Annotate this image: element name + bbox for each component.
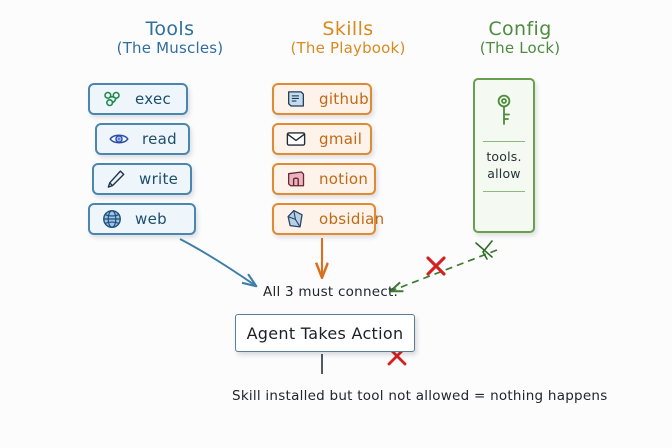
column-title-skills: Skills — [248, 18, 448, 40]
config-divider-bottom — [483, 191, 525, 192]
config-key-line1: tools. — [486, 149, 521, 164]
envelope-icon — [285, 128, 307, 150]
config-divider-top — [483, 141, 525, 142]
config-key-line2: allow — [487, 166, 520, 181]
tool-chip-exec[interactable]: exec — [88, 83, 188, 115]
config-panel[interactable]: tools. allow — [473, 78, 535, 233]
column-subtitle-tools: (The Muscles) — [60, 40, 280, 58]
tool-label-read: read — [142, 130, 177, 148]
key-icon — [491, 91, 517, 131]
connect-note: All 3 must connect. — [263, 284, 398, 300]
exec-node-icon — [101, 88, 123, 110]
skill-chip-obsidian[interactable]: obsidian — [272, 203, 376, 235]
arrow-tools-to-center — [180, 239, 256, 286]
column-subtitle-skills: (The Playbook) — [248, 40, 448, 58]
column-heading-tools: Tools (The Muscles) — [60, 18, 280, 58]
gem-icon — [285, 208, 307, 230]
bottom-caption: Skill installed but tool not allowed = n… — [232, 388, 608, 404]
notebook-icon — [285, 168, 307, 190]
skill-label-gmail: gmail — [319, 130, 362, 148]
pencil-icon — [105, 168, 127, 190]
tool-chip-write[interactable]: write — [92, 163, 192, 195]
column-subtitle-config: (The Lock) — [430, 40, 610, 58]
tool-label-write: write — [139, 170, 178, 188]
eye-icon — [108, 128, 130, 150]
tool-label-web: web — [135, 210, 167, 228]
agent-action-label: Agent Takes Action — [247, 324, 404, 343]
tool-chip-read[interactable]: read — [95, 123, 190, 155]
config-break-mark — [476, 241, 492, 259]
globe-icon — [101, 208, 123, 230]
book-icon — [285, 88, 307, 110]
diagram-canvas: Tools (The Muscles) Skills (The Playbook… — [0, 0, 672, 448]
tool-label-exec: exec — [135, 90, 171, 108]
agent-action-box[interactable]: Agent Takes Action — [235, 314, 415, 352]
column-title-config: Config — [430, 18, 610, 40]
column-heading-skills: Skills (The Playbook) — [248, 18, 448, 58]
skill-label-obsidian: obsidian — [319, 210, 384, 228]
skill-chip-notion[interactable]: notion — [272, 163, 376, 195]
arrow-config-to-center-blocked — [391, 250, 497, 291]
skill-chip-gmail[interactable]: gmail — [272, 123, 372, 155]
config-key-text: tools. allow — [486, 149, 521, 183]
skill-chip-github[interactable]: github — [272, 83, 372, 115]
column-title-tools: Tools — [60, 18, 280, 40]
red-x-blocked-path — [428, 258, 444, 274]
column-heading-config: Config (The Lock) — [430, 18, 610, 58]
skill-label-notion: notion — [319, 170, 368, 188]
tool-chip-web[interactable]: web — [88, 203, 196, 235]
skill-label-github: github — [319, 90, 369, 108]
